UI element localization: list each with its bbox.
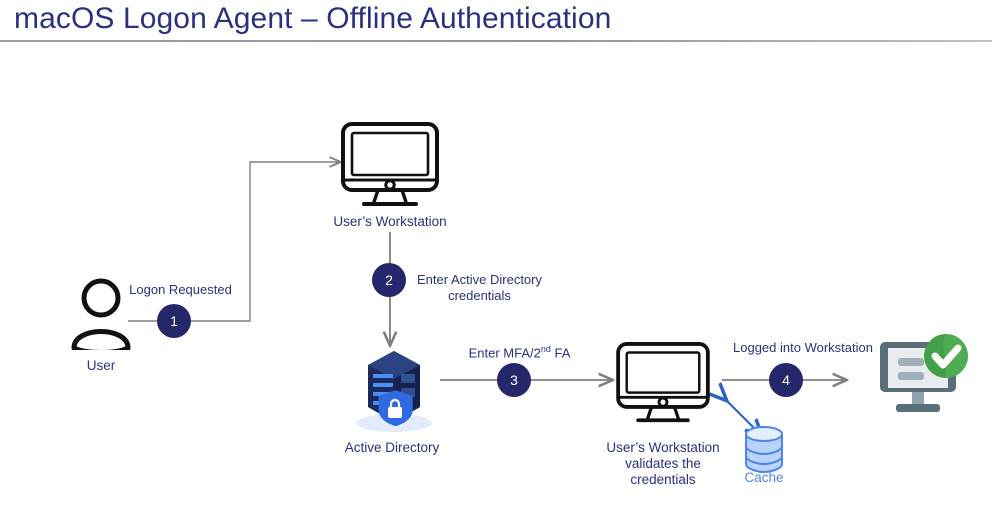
server-rack-shield-lock-icon	[352, 345, 436, 435]
node-workstation-1-label: User’s Workstation	[310, 214, 470, 230]
connector-layer	[0, 0, 992, 505]
node-workstation-2[interactable]	[615, 342, 711, 426]
page-title: macOS Logon Agent – Offline Authenticati…	[14, 0, 611, 38]
node-workstation-1[interactable]	[340, 122, 440, 210]
step-label-3-text: Enter MFA/2	[469, 345, 541, 360]
node-cache[interactable]	[740, 424, 788, 474]
node-logged-in[interactable]	[876, 334, 972, 418]
step-label-1: Logon Requested	[118, 282, 243, 298]
node-user-label: User	[51, 358, 151, 374]
step-label-3-suffix: FA	[551, 345, 571, 360]
step-label-4: Logged into Workstation	[718, 340, 888, 356]
step-badge-1[interactable]: 1	[157, 304, 191, 338]
monitor-check-success-icon	[876, 334, 972, 418]
node-active-directory[interactable]	[352, 345, 436, 435]
step-badge-2[interactable]: 2	[372, 263, 406, 297]
imac-monitor-icon	[340, 122, 440, 210]
step-badge-3[interactable]: 3	[497, 363, 531, 397]
slide-canvas: macOS Logon Agent – Offline Authenticati…	[0, 0, 992, 505]
node-workstation-2-label: User’s Workstation validates the credent…	[593, 440, 733, 488]
imac-monitor-icon	[615, 342, 711, 426]
title-divider	[0, 40, 992, 42]
step-label-3-ordinal: nd	[541, 344, 551, 354]
database-cylinder-icon	[740, 424, 788, 474]
step-label-3: Enter MFA/2nd FA	[452, 341, 587, 361]
step-badge-4[interactable]: 4	[769, 363, 803, 397]
node-active-directory-label: Active Directory	[312, 440, 472, 456]
node-cache-label: Cache	[724, 470, 804, 486]
step-label-2: Enter Active Directory credentials	[412, 272, 547, 304]
